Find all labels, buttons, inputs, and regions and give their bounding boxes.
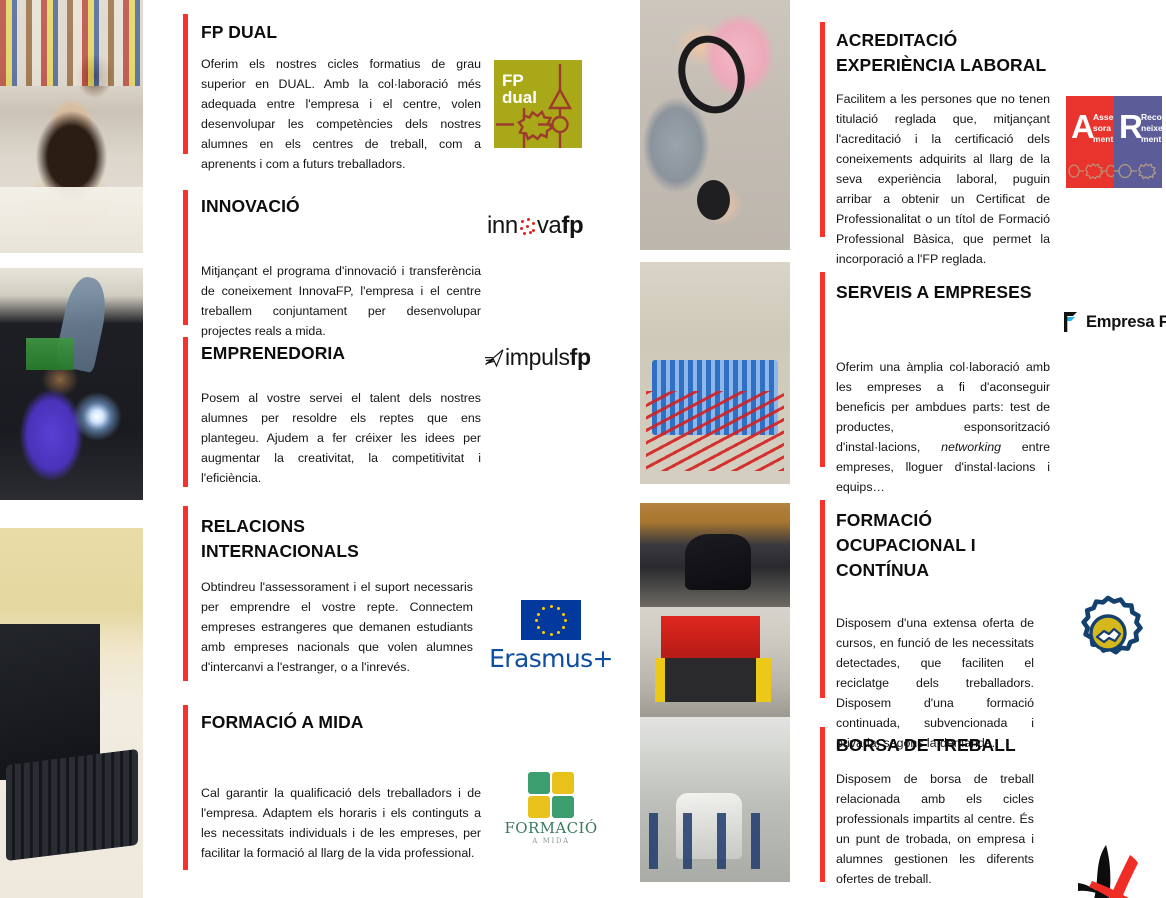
section-title: BORSA DE TREBALL — [836, 733, 1050, 758]
acreditacio-logo-letter-r: R — [1119, 110, 1143, 143]
gear-handshake-icon — [1070, 595, 1146, 671]
photo-electrical-panel — [640, 262, 790, 484]
acreditacio-logo-words-r: Reco neixe ment — [1141, 112, 1163, 145]
word-2: sora — [1093, 123, 1111, 133]
impulsfp-logo-bold: fp — [570, 344, 591, 370]
erasmus-plus-logo: Erasmus+ — [489, 600, 613, 673]
accent-rule — [820, 727, 825, 882]
section-title: RELACIONS INTERNACIONALS — [201, 514, 483, 564]
acreditacio-logo: A Asses sora ment R Reco neixe ment — [1066, 96, 1162, 188]
section-title: EMPRENEDORIA — [201, 341, 483, 366]
section-title-line2: OCUPACIONAL I CONTÍNUA — [836, 535, 976, 580]
section-title: ACREDITACIÓ EXPERIÈNCIA LABORAL — [836, 28, 1050, 78]
erasmus-plus-wordmark: Erasmus+ — [489, 644, 613, 673]
section-formacio-a-mida: FORMACIÓ A MIDA Cal garantir la qualific… — [183, 705, 483, 870]
innovafp-logo-mid: va — [537, 212, 562, 239]
acreditacio-logo-diagram-right — [1114, 160, 1162, 182]
innovafp-logo-dots-icon — [518, 216, 537, 236]
accent-rule — [183, 14, 188, 154]
formacio-a-mida-wordmark: FORMACIÓ — [503, 819, 599, 837]
eu-flag-icon — [521, 600, 581, 640]
section-title: SERVEIS A EMPRESES — [836, 280, 1050, 305]
section-title-line1: RELACIONS — [201, 516, 305, 536]
impulsfp-arrow-icon — [484, 348, 505, 368]
section-body: Posem al vostre servei el talent dels no… — [201, 388, 481, 488]
section-relacions-internacionals: RELACIONS INTERNACIONALS Obtindreu l'ass… — [183, 506, 483, 681]
formacio-a-mida-subtitle: A MIDA — [503, 837, 599, 845]
accent-rule — [820, 272, 825, 467]
word-3: ment — [1141, 134, 1161, 144]
section-body: Facilitem a les persones que no tenen ti… — [836, 89, 1050, 270]
section-title-line1: FORMACIÓ — [836, 510, 932, 530]
photo-classroom-signwriting — [0, 0, 143, 253]
empresa-fp-mark-icon — [1064, 312, 1079, 332]
section-title-line2: EXPERIÈNCIA LABORAL — [836, 55, 1046, 75]
innovafp-logo-bold: fp — [561, 212, 583, 239]
impulsfp-logo: impulsfp — [484, 344, 591, 371]
word-2: neixe — [1141, 123, 1163, 133]
formacio-ocupacional-gear-logo — [1070, 595, 1146, 671]
section-emprenedoria: EMPRENEDORIA Posem al vostre servei el t… — [183, 337, 483, 487]
accent-rule — [820, 22, 825, 237]
section-title: INNOVACIÓ — [201, 194, 483, 219]
brochure-page: FP DUAL Oferim els nostres cicles format… — [0, 0, 1166, 898]
innovafp-logo-light: inn — [487, 212, 518, 239]
accent-rule — [183, 337, 188, 487]
photo-computer-desk — [0, 528, 143, 898]
section-fp-dual: FP DUAL Oferim els nostres cicles format… — [183, 14, 483, 154]
innovafp-logo: inn vafp — [487, 212, 583, 240]
word-3: ment — [1093, 134, 1113, 144]
section-innovacio: INNOVACIÓ Mitjançant el programa d'innov… — [183, 190, 483, 325]
photo-press-brake — [640, 607, 790, 717]
photo-welding-workshop — [0, 268, 143, 500]
section-formacio-ocupacional-continua: FORMACIÓ OCUPACIONAL I CONTÍNUA Disposem… — [820, 500, 1050, 698]
section-body: Oferim els nostres cicles formatius de g… — [201, 54, 481, 175]
section-serveis-a-empreses: SERVEIS A EMPRESES Oferim una àmplia col… — [820, 272, 1050, 467]
section-body: Disposem de borsa de treball relacionada… — [836, 769, 1034, 890]
photo-workshop-hall — [640, 717, 790, 882]
section-body: Oferim una àmplia col·laboració amb les … — [836, 357, 1050, 498]
accent-rule — [183, 705, 188, 870]
acreditacio-logo-reconeixement: R Reco neixe ment — [1114, 96, 1162, 188]
accent-rule — [183, 506, 188, 681]
section-acreditacio-experiencia-laboral: ACREDITACIÓ EXPERIÈNCIA LABORAL Facilite… — [820, 22, 1050, 237]
section-title: FORMACIÓ A MIDA — [201, 710, 483, 735]
section-body: Obtindreu l'assessorament i el suport ne… — [201, 577, 473, 677]
section-title: FORMACIÓ OCUPACIONAL I CONTÍNUA — [836, 508, 1050, 583]
section-body-italic: networking — [941, 440, 1001, 454]
empresa-fp-wordmark: Empresa FP — [1086, 313, 1166, 332]
acreditacio-logo-letter-a: A — [1071, 110, 1095, 143]
puzzle-icon — [528, 772, 574, 818]
section-body: Cal garantir la qualificació dels trebal… — [201, 783, 481, 863]
section-borsa-de-treball: BORSA DE TREBALL Disposem de borsa de tr… — [820, 727, 1050, 882]
section-title: FP DUAL — [201, 20, 483, 45]
fp-dual-logo: FP dual — [494, 60, 582, 148]
word-1: Reco — [1141, 112, 1162, 122]
photo-machine-shop — [640, 503, 790, 607]
photo-blood-pressure — [640, 0, 790, 250]
section-body: Mitjançant el programa d'innovació i tra… — [201, 261, 481, 341]
accent-rule — [183, 190, 188, 325]
acreditacio-logo-diagram-left — [1066, 160, 1114, 182]
borsa-de-treball-logo — [1068, 841, 1152, 898]
acreditacio-logo-assessorament: A Asses sora ment — [1066, 96, 1114, 188]
empresa-fp-logo: Empresa FP — [1064, 312, 1166, 332]
section-title-line2: INTERNACIONALS — [201, 541, 359, 561]
accent-rule — [820, 500, 825, 698]
impulsfp-logo-light: impuls — [505, 344, 570, 370]
section-title-line1: ACREDITACIÓ — [836, 30, 957, 50]
borsa-de-treball-brush-icon — [1068, 841, 1152, 898]
fp-dual-logo-diagram — [494, 60, 582, 148]
formacio-a-mida-logo: FORMACIÓ A MIDA — [503, 772, 599, 845]
